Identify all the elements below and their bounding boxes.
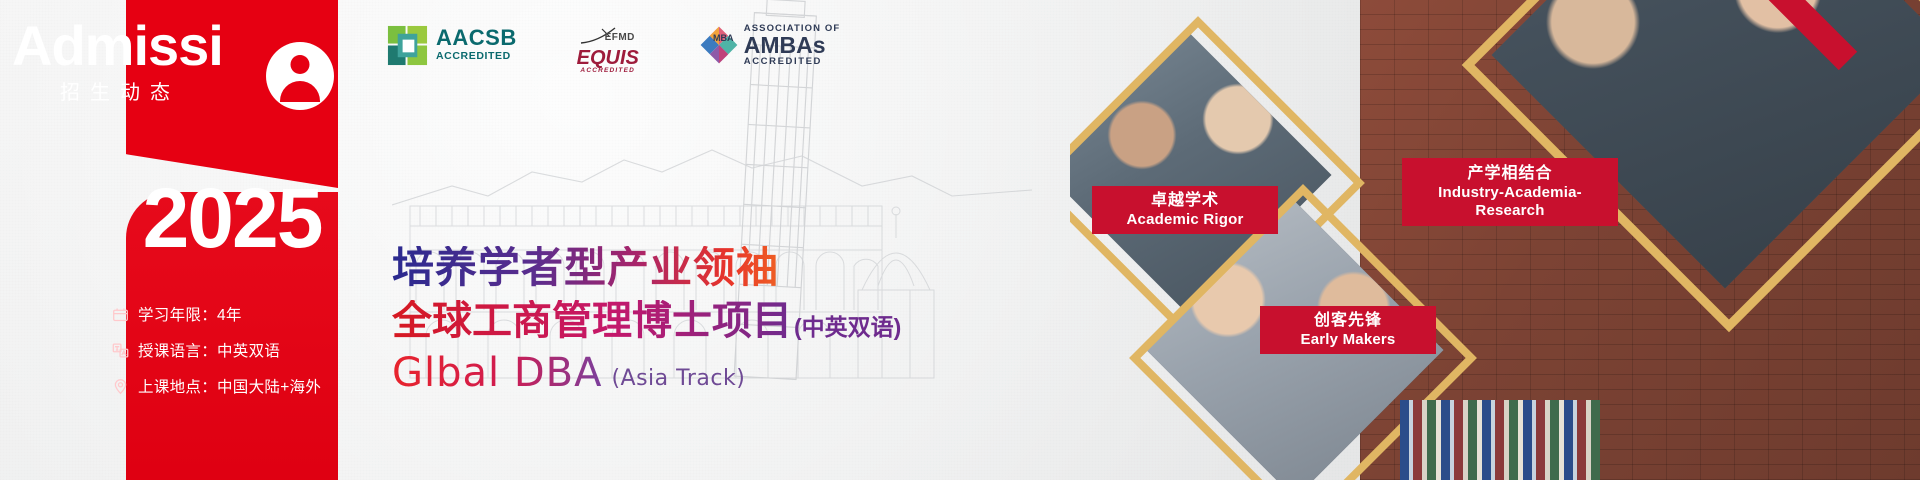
badge-industry-academia-en: Industry-Academia- xyxy=(1416,184,1604,202)
amba-text: ASSOCIATION OF AMBAs ACCREDITED xyxy=(744,24,841,66)
admission-wordmark: Admissi xyxy=(12,18,223,74)
program-title-en-sub: (Asia Track) xyxy=(611,367,745,394)
headline-block: 培养学者型产业领袖 全球工商管理博士项目 (中英双语) Glbal DBA (A… xyxy=(392,246,901,394)
badge-academic-rigor-cn: 卓越学术 xyxy=(1104,191,1266,211)
badge-industry-academia-en2: Research xyxy=(1416,202,1604,220)
program-info-list: 学习年限：4年 授课语言：中英双语 上课地点：中国大陆+海外 xyxy=(112,296,342,404)
badge-industry-academia-cn: 产学相结合 xyxy=(1416,164,1604,184)
amba-status: ACCREDITED xyxy=(744,57,841,67)
aacsb-name: AACSB xyxy=(436,27,517,49)
badge-early-makers-cn: 创客先锋 xyxy=(1272,311,1424,331)
info-row-duration: 学习年限：4年 xyxy=(112,296,342,332)
amba-diamond-icon: MBA xyxy=(699,25,739,65)
year-label: 2025 xyxy=(126,176,338,260)
amba-logo: MBA ASSOCIATION OF AMBAs ACCREDITED xyxy=(699,24,841,66)
accreditation-logo-row: AACSB ACCREDITED EFMD EQUIS ACCREDITED xyxy=(386,24,840,74)
bookshelf-accent xyxy=(1400,400,1600,480)
program-title-cn-row: 全球工商管理博士项目 (中英双语) xyxy=(392,300,901,342)
badge-academic-rigor-en: Academic Rigor xyxy=(1104,211,1266,229)
amba-name: AMBAs xyxy=(744,34,841,57)
aacsb-logo: AACSB ACCREDITED xyxy=(386,24,517,67)
photo-collage: 卓越学术 Academic Rigor 产学相结合 Industry-Acade… xyxy=(1070,0,1920,480)
efmd-label: EFMD xyxy=(577,32,663,43)
aacsb-status: ACCREDITED xyxy=(436,49,517,63)
info-location-text: 上课地点：中国大陆+海外 xyxy=(138,375,321,397)
program-title-en-row: Glbal DBA (Asia Track) xyxy=(392,352,901,394)
info-duration-text: 学习年限：4年 xyxy=(138,303,242,325)
info-row-language: 授课语言：中英双语 xyxy=(112,332,342,368)
person-avatar-icon xyxy=(266,42,334,110)
calendar-icon xyxy=(112,306,129,323)
location-pin-icon xyxy=(112,378,129,395)
equis-logo: EFMD EQUIS ACCREDITED xyxy=(565,24,651,74)
badge-early-makers: 创客先锋 Early Makers xyxy=(1260,306,1436,354)
svg-text:MBA: MBA xyxy=(713,33,734,43)
language-icon xyxy=(112,342,129,359)
badge-academic-rigor: 卓越学术 Academic Rigor xyxy=(1092,186,1278,234)
aacsb-mark-icon xyxy=(386,24,429,67)
equis-name: EQUIS xyxy=(565,49,651,67)
program-title-cn-sub: (中英双语) xyxy=(794,315,901,342)
admission-banner: Admissi 招生动态 2025 学习年限：4年 授课语言：中英双语 xyxy=(0,0,1920,480)
admission-logo-lockup: Admissi 招生动态 xyxy=(12,18,342,138)
info-row-location: 上课地点：中国大陆+海外 xyxy=(112,368,342,404)
badge-industry-academia: 产学相结合 Industry-Academia- Research xyxy=(1402,158,1618,226)
info-language-text: 授课语言：中英双语 xyxy=(138,339,280,361)
admission-wordmark-cn: 招生动态 xyxy=(60,76,180,105)
badge-early-makers-en: Early Makers xyxy=(1272,331,1424,349)
aacsb-text: AACSB ACCREDITED xyxy=(436,27,517,63)
program-title-cn: 全球工商管理博士项目 xyxy=(392,300,792,342)
tagline: 培养学者型产业领袖 xyxy=(392,246,901,290)
program-title-en: Glbal DBA xyxy=(392,352,602,394)
